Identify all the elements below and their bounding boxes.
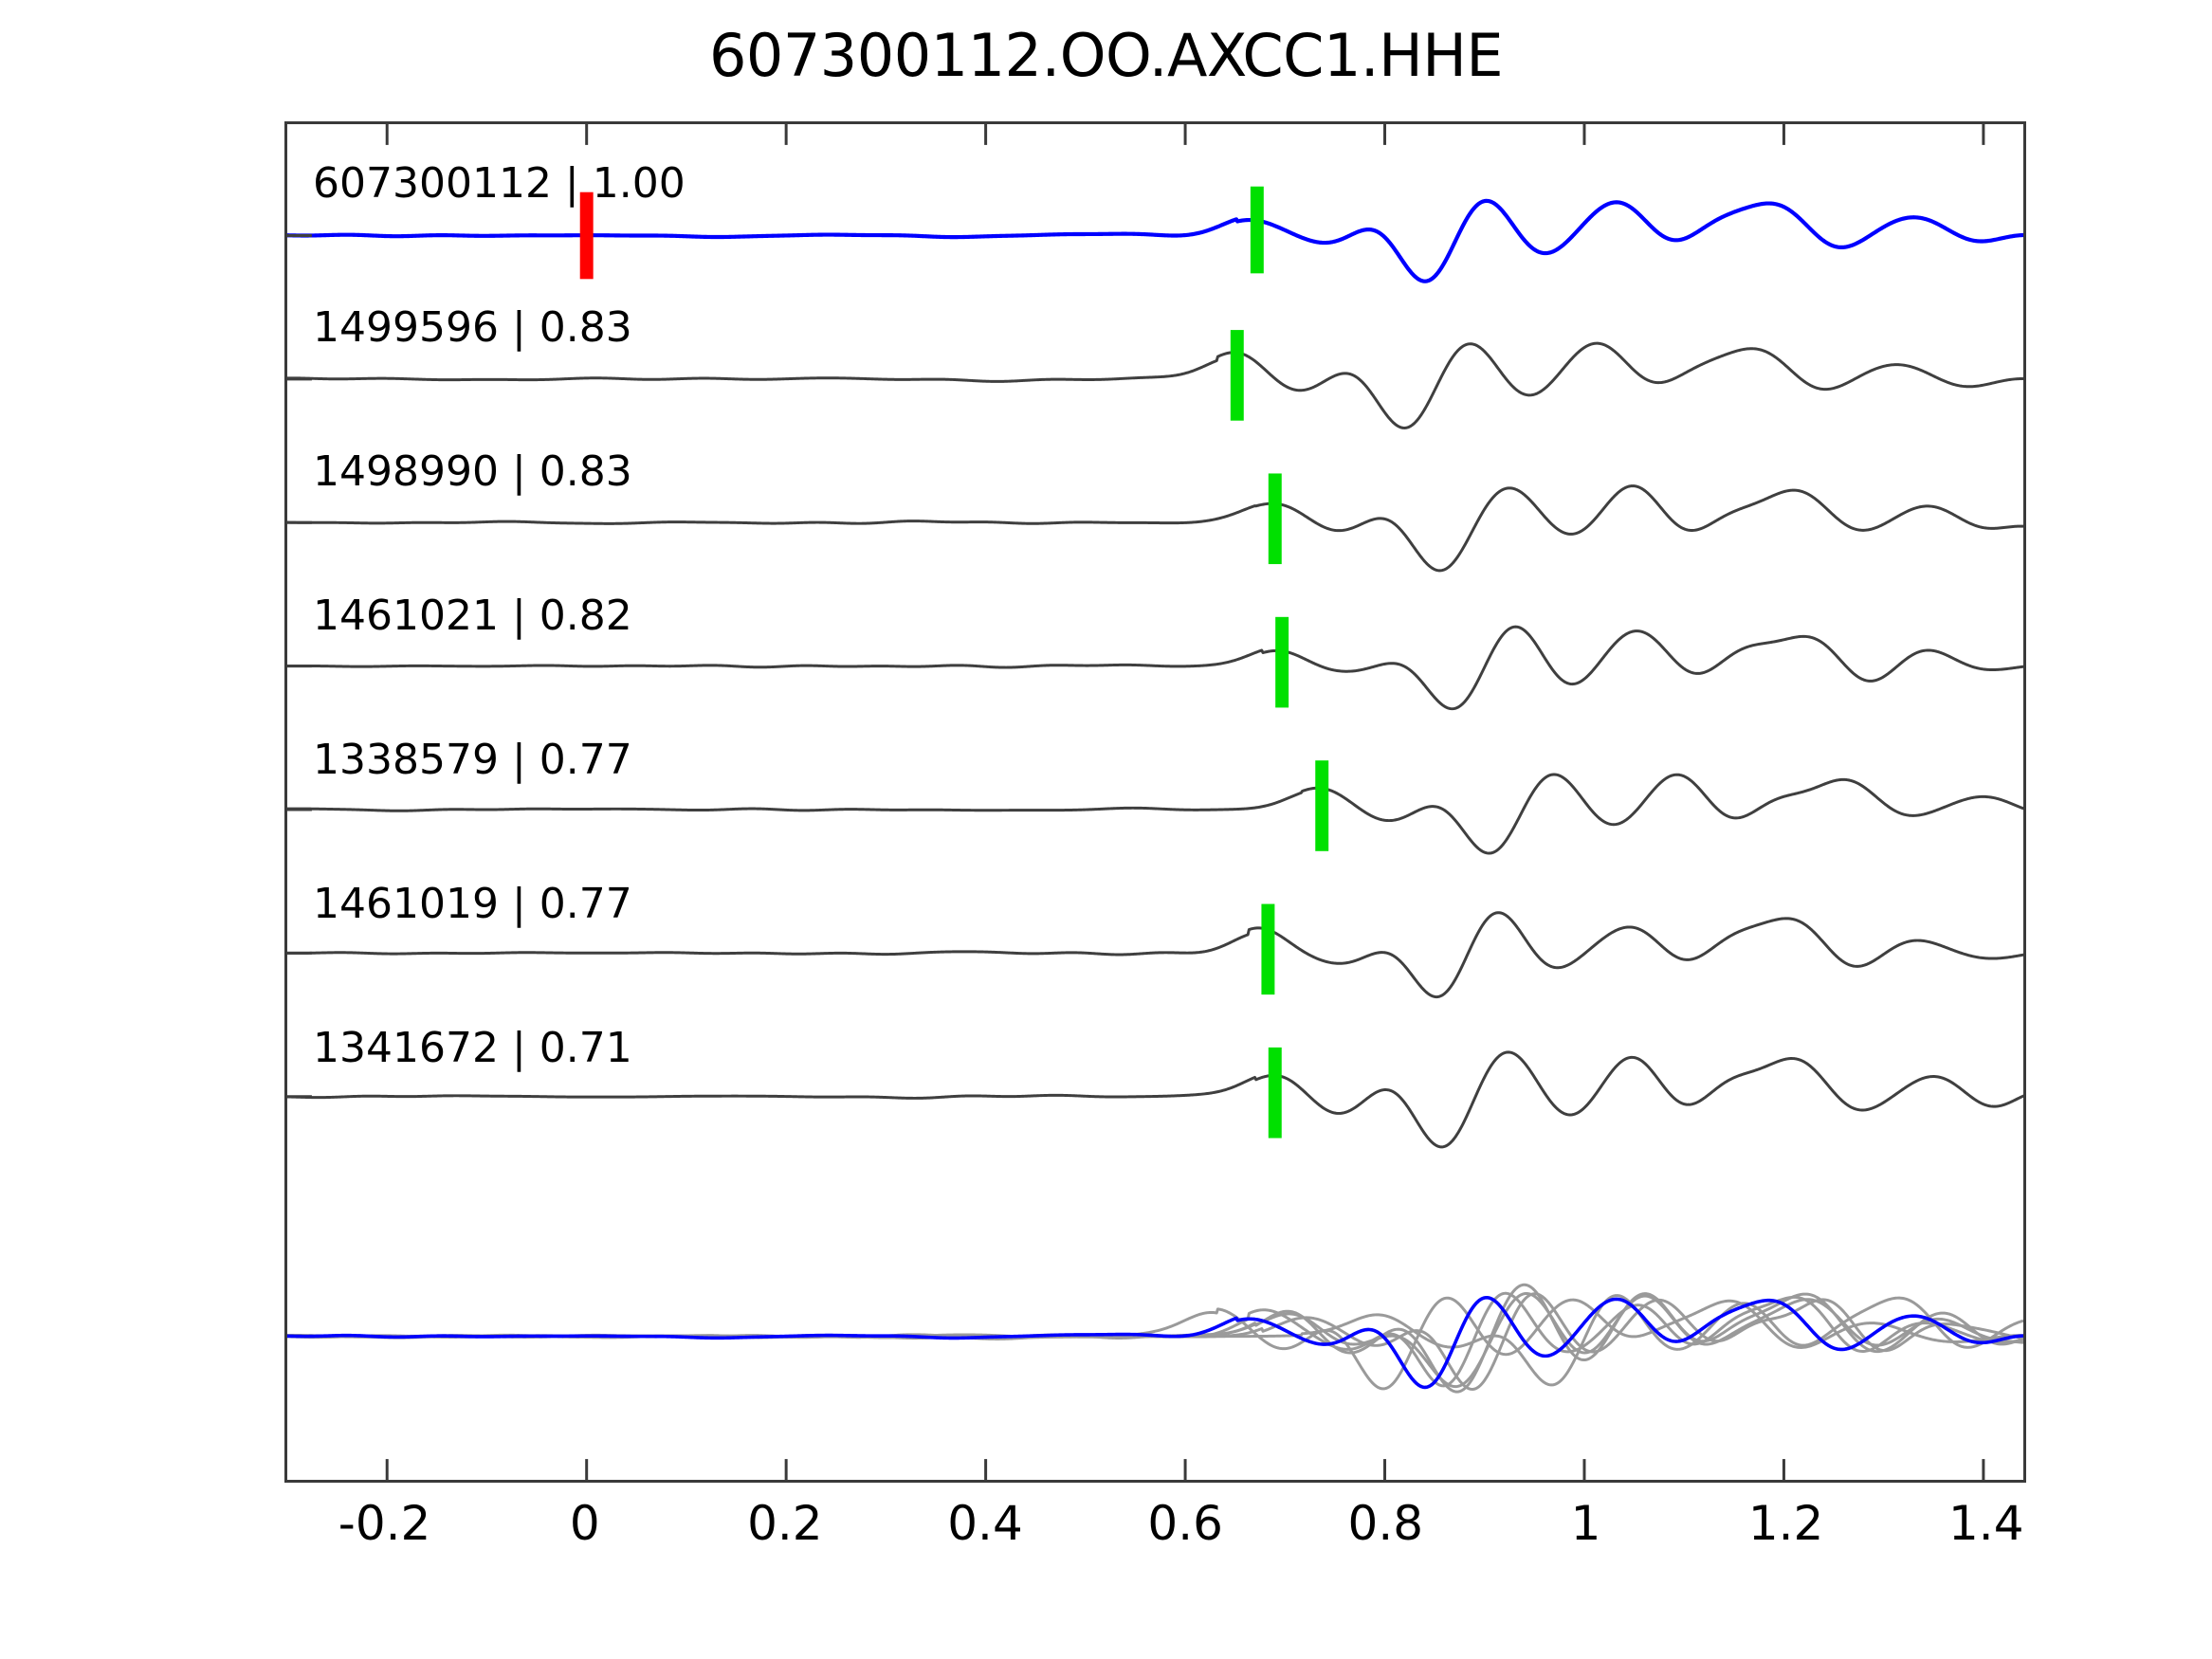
stack-overlay-trace (287, 1294, 2023, 1390)
detection-pick-marker (1275, 617, 1289, 708)
trace-label: 1338579 | 0.77 (313, 736, 632, 784)
x-axis-tick-labels: -0.200.20.40.60.811.21.4 (284, 1496, 2026, 1562)
x-tick-label: -0.2 (338, 1496, 431, 1551)
x-tick-label: 1.2 (1748, 1496, 1824, 1551)
detection-pick-marker (1269, 473, 1282, 564)
waveform-trace (287, 343, 2023, 428)
trace-label: 1341672 | 0.71 (313, 1024, 632, 1072)
page-title: 607300112.OO.AXCC1.HHE (0, 21, 2212, 90)
x-tick-label: 1.4 (1948, 1496, 2024, 1551)
trace-label: 1461019 | 0.77 (313, 880, 632, 928)
x-tick-label: 0.8 (1348, 1496, 1424, 1551)
stack-overlay-trace (287, 1293, 2023, 1386)
waveform-trace (287, 775, 2023, 853)
seismogram-figure: 607300112.OO.AXCC1.HHE 607300112 | 1.001… (0, 0, 2212, 1659)
detection-pick-marker (1251, 187, 1264, 274)
stack-overlay-trace (287, 1296, 2023, 1385)
x-tick-label: 0.6 (1147, 1496, 1223, 1551)
detection-pick-marker (1269, 1048, 1282, 1139)
x-tick-label: 0.4 (947, 1496, 1023, 1551)
trace-label: 607300112 | 1.00 (313, 159, 686, 208)
x-tick-label: 0.2 (747, 1496, 823, 1551)
trace-label: 1498990 | 0.83 (313, 447, 632, 496)
x-tick-label: 1 (1571, 1496, 1601, 1551)
trace-label: 1499596 | 0.83 (313, 303, 632, 352)
waveform-trace (287, 486, 2023, 571)
waveform-trace (287, 201, 2023, 282)
x-tick-label: 0 (570, 1496, 600, 1551)
detection-pick-marker (1261, 904, 1274, 995)
detection-pick-marker (1231, 330, 1244, 421)
detection-pick-marker (1315, 760, 1328, 851)
trace-label: 1461021 | 0.82 (313, 592, 632, 640)
